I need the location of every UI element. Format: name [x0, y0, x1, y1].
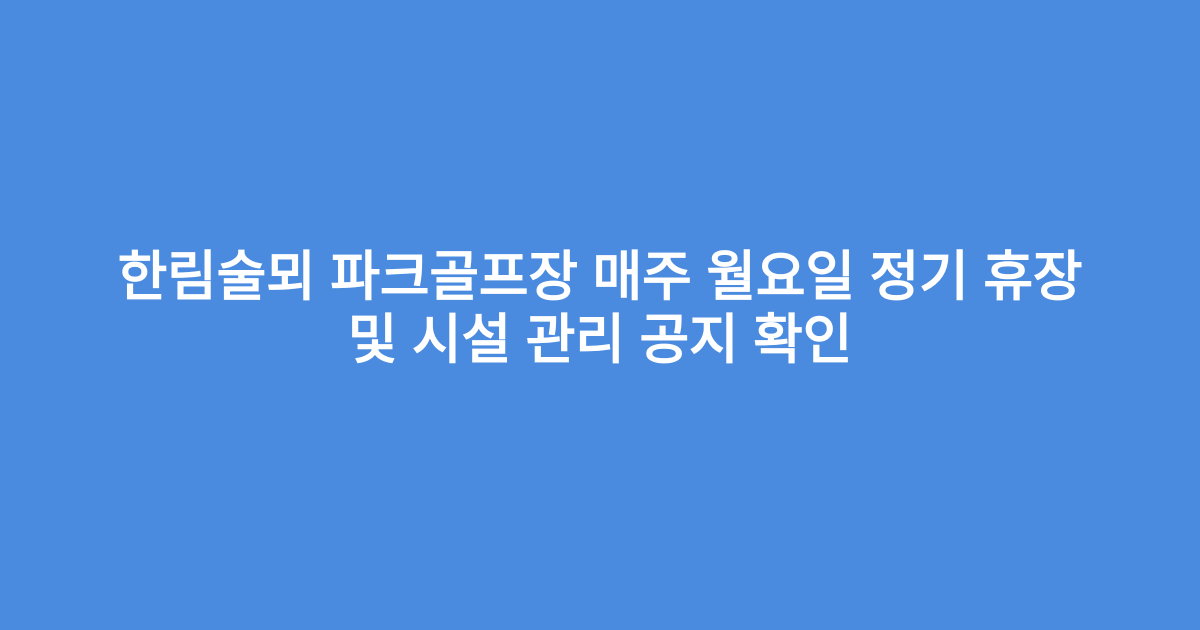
- banner-content: 한림술뫼 파크골프장 매주 월요일 정기 휴장 및 시설 관리 공지 확인: [100, 246, 1100, 372]
- notice-banner: 한림술뫼 파크골프장 매주 월요일 정기 휴장 및 시설 관리 공지 확인: [0, 0, 1200, 630]
- page-title: 한림술뫼 파크골프장 매주 월요일 정기 휴장 및 시설 관리 공지 확인: [100, 246, 1100, 372]
